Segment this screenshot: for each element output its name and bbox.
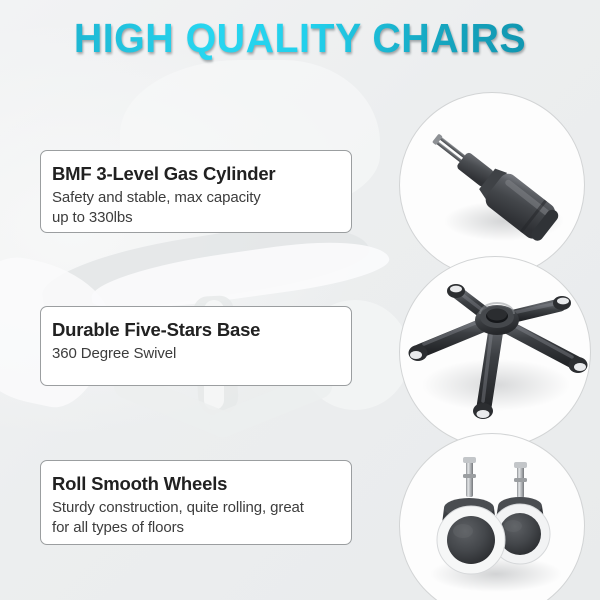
product-photo-five-star-base — [399, 256, 591, 448]
product-photo-caster-wheels — [399, 433, 585, 600]
five-star-base-icon — [400, 257, 591, 448]
page-title: HIGH QUALITY CHAIRS — [12, 14, 588, 62]
feature-card-five-star-base: Durable Five-Stars Base 360 Degree Swive… — [40, 306, 352, 386]
feature-description: 360 Degree Swivel — [52, 344, 351, 364]
feature-description-line-2: up to 330lbs — [52, 208, 351, 228]
product-infographic: HIGH QUALITY CHAIRS BMF 3-Level Gas Cyli… — [0, 0, 600, 600]
caster-wheels-icon — [400, 434, 585, 600]
feature-title: Roll Smooth Wheels — [52, 472, 351, 496]
feature-card-gas-cylinder: BMF 3-Level Gas Cylinder Safety and stab… — [40, 150, 352, 233]
feature-description-line-1: Sturdy construction, quite rolling, grea… — [52, 498, 351, 518]
feature-description: Sturdy construction, quite rolling, grea… — [52, 498, 351, 537]
feature-description-line-1: Safety and stable, max capacity — [52, 188, 351, 208]
feature-description: Safety and stable, max capacity up to 33… — [52, 188, 351, 227]
feature-description-line-1: 360 Degree Swivel — [52, 344, 351, 364]
feature-title: BMF 3-Level Gas Cylinder — [52, 162, 351, 186]
product-photo-gas-cylinder — [399, 92, 585, 278]
feature-description-line-2: for all types of floors — [52, 518, 351, 538]
feature-card-roll-smooth-wheels: Roll Smooth Wheels Sturdy construction, … — [40, 460, 352, 545]
gas-cylinder-icon — [400, 93, 585, 278]
caster-wheel-left — [437, 457, 505, 574]
feature-title: Durable Five-Stars Base — [52, 318, 351, 342]
